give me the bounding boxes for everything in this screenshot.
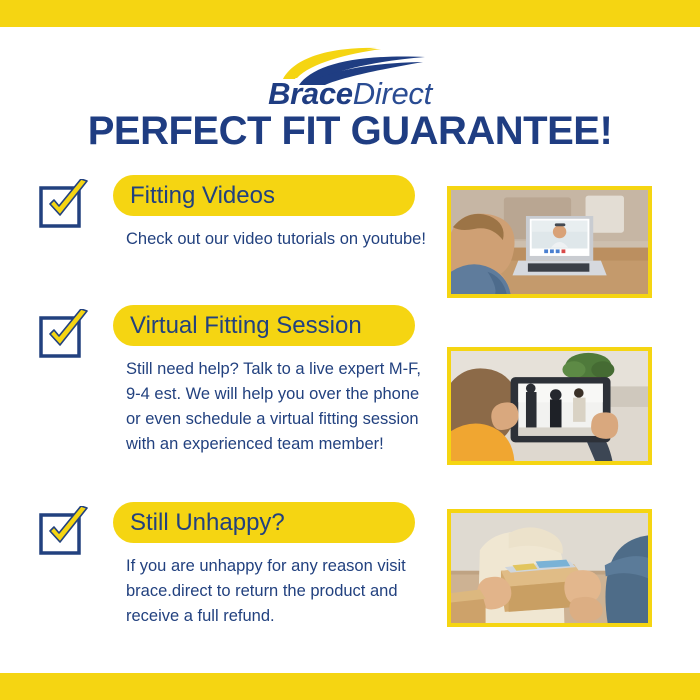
feature-title-pill-2[interactable]: Virtual Fitting Session bbox=[113, 305, 415, 346]
checked-checkbox-icon bbox=[38, 309, 90, 359]
photo-virtual-fitting-session bbox=[447, 347, 652, 465]
brand-name-secondary: Direct bbox=[353, 76, 432, 111]
top-yellow-band bbox=[0, 0, 700, 27]
brand-logo: BraceDirect bbox=[0, 45, 700, 109]
feature-body-1: Check out our video tutorials on youtube… bbox=[126, 227, 426, 252]
poster-body: BraceDirect PERFECT FIT GUARANTEE! Fitti… bbox=[0, 27, 700, 673]
feature-title-2: Virtual Fitting Session bbox=[113, 314, 362, 338]
checked-checkbox-icon bbox=[38, 506, 90, 556]
feature-title-1: Fitting Videos bbox=[113, 184, 275, 208]
feature-title-3: Still Unhappy? bbox=[113, 511, 285, 535]
checked-checkbox-icon bbox=[38, 179, 90, 229]
photo-fitting-videos bbox=[447, 186, 652, 298]
brand-wordmark: BraceDirect bbox=[0, 78, 700, 109]
bottom-yellow-band bbox=[0, 673, 700, 700]
feature-title-pill-1[interactable]: Fitting Videos bbox=[113, 175, 415, 216]
brand-name-primary: Brace bbox=[268, 76, 353, 111]
page-title: PERFECT FIT GUARANTEE! bbox=[0, 109, 700, 154]
feature-title-pill-3[interactable]: Still Unhappy? bbox=[113, 502, 415, 543]
feature-body-3: If you are unhappy for any reason visit … bbox=[126, 554, 426, 629]
package-handoff-illustration bbox=[451, 513, 648, 623]
photo-return-package bbox=[447, 509, 652, 627]
feature-body-2: Still need help? Talk to a live expert M… bbox=[126, 357, 426, 457]
laptop-video-call-illustration bbox=[451, 190, 648, 294]
tablet-video-call-illustration bbox=[451, 351, 648, 461]
